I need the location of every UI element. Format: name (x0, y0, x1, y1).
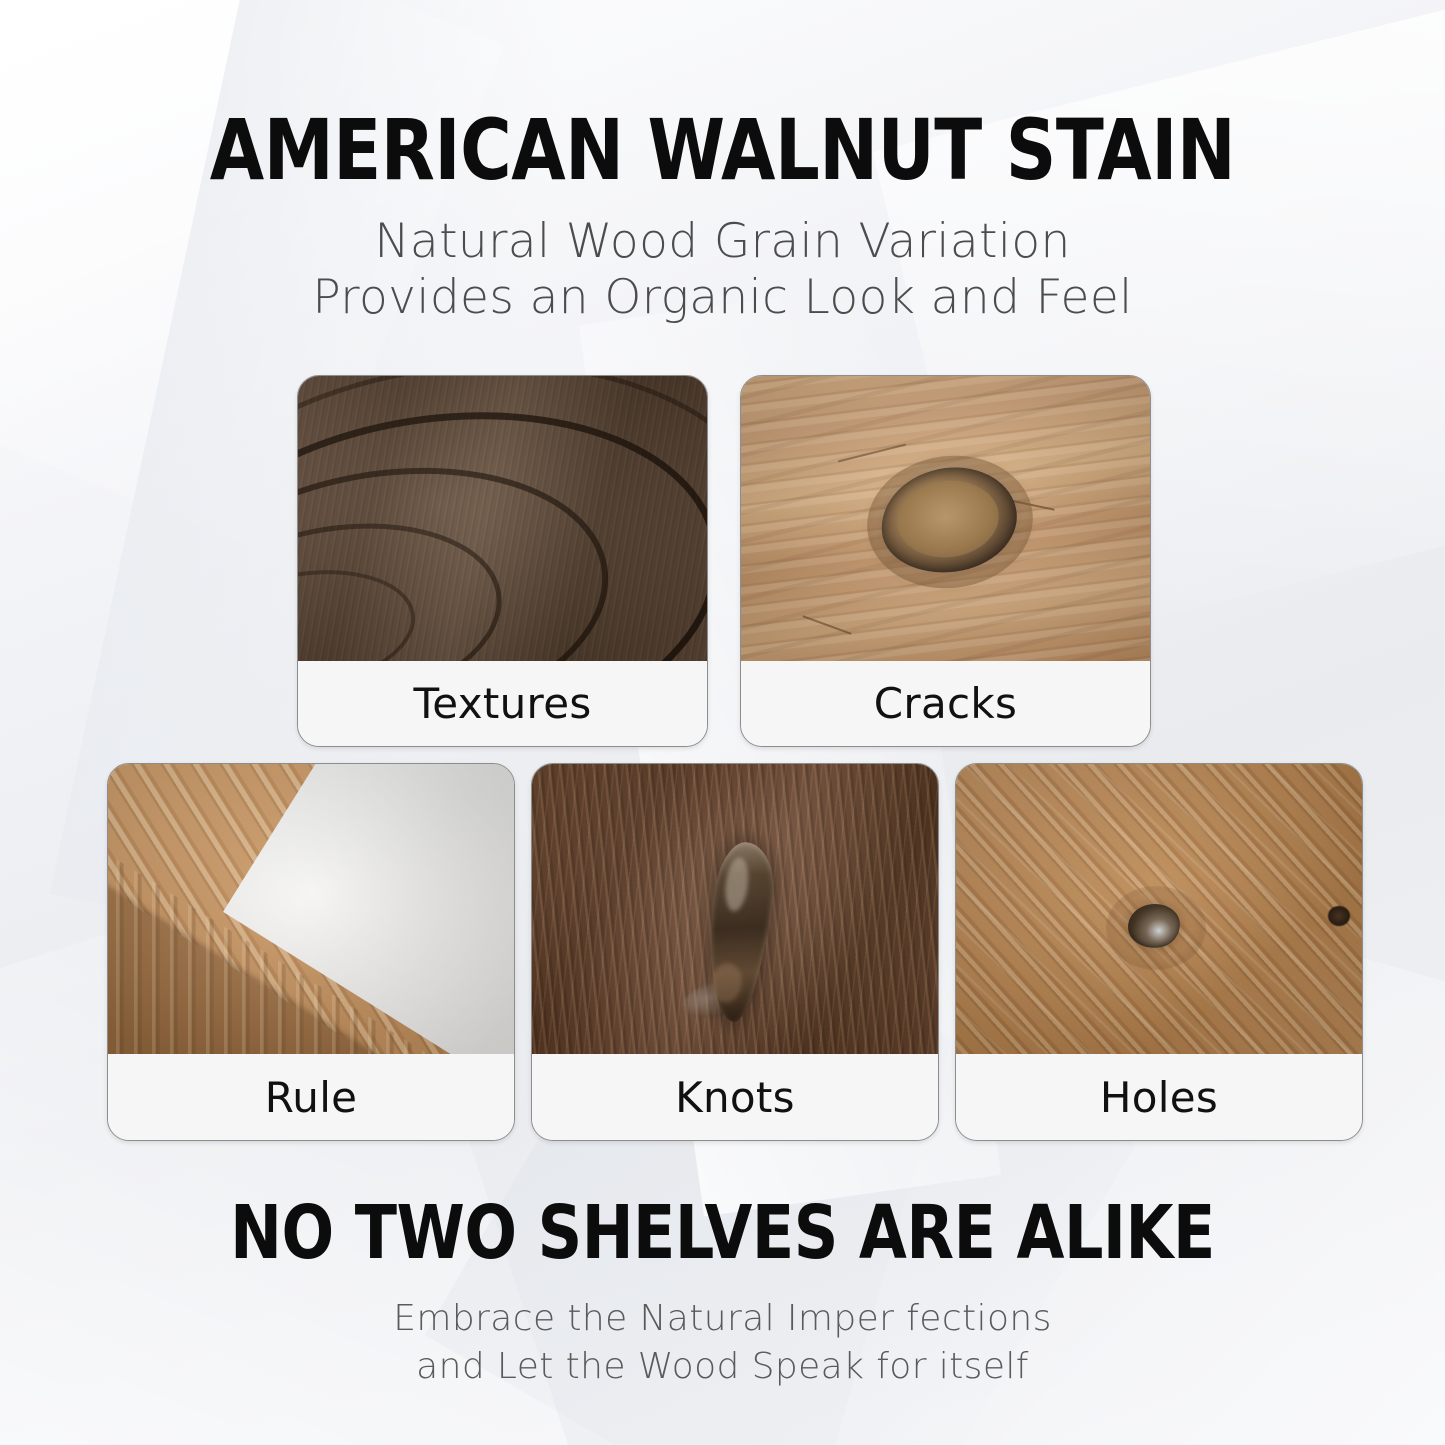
feature-card-textures[interactable]: Textures (297, 375, 708, 747)
page-title: AMERICAN WALNUT STAIN (51, 108, 1395, 192)
textures-photo (298, 376, 707, 661)
card-label-textures: Textures (298, 661, 707, 746)
card-label-rule: Rule (108, 1054, 514, 1140)
cracks-photo (741, 376, 1150, 661)
header-subtitle-line-1: Natural Wood Grain Variation (0, 214, 1445, 269)
holes-photo (956, 764, 1362, 1054)
footer-subtitle-line-1: Embrace the Natural Imper fections (0, 1298, 1445, 1339)
feature-card-cracks[interactable]: Cracks (740, 375, 1151, 747)
feature-card-knots[interactable]: Knots (531, 763, 939, 1141)
card-label-knots: Knots (532, 1054, 938, 1140)
header-subtitle-line-2: Provides an Organic Look and Feel (0, 270, 1445, 325)
knots-photo (532, 764, 938, 1054)
feature-card-holes[interactable]: Holes (955, 763, 1363, 1141)
footer-subtitle-line-2: and Let the Wood Speak for itself (0, 1346, 1445, 1387)
card-label-cracks: Cracks (741, 661, 1150, 746)
footer-title: NO TWO SHELVES ARE ALIKE (51, 1196, 1395, 1270)
card-label-holes: Holes (956, 1054, 1362, 1140)
feature-card-rule[interactable]: Rule (107, 763, 515, 1141)
infographic-root: AMERICAN WALNUT STAIN Natural Wood Grain… (0, 0, 1445, 1445)
rule-photo (108, 764, 514, 1054)
